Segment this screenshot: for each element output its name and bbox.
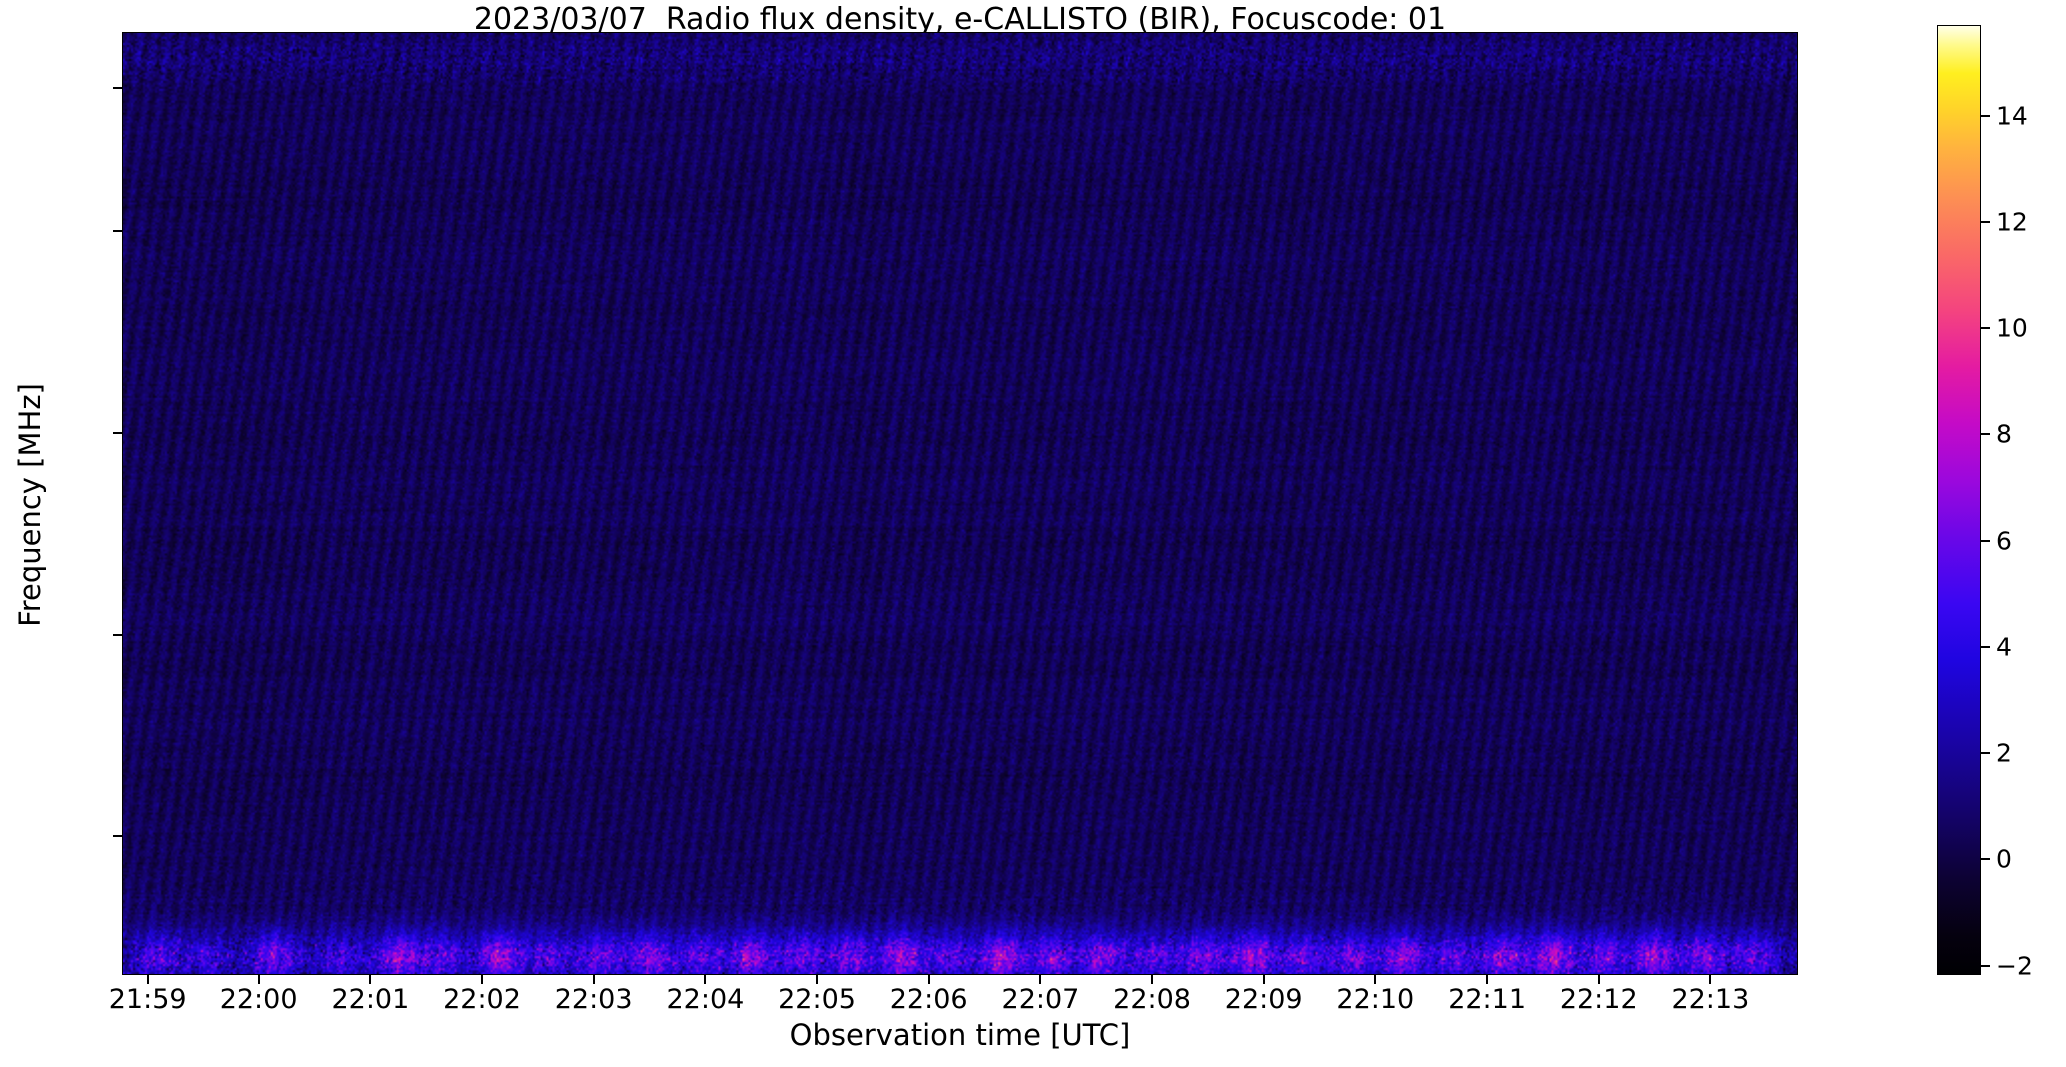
x-tick-mark xyxy=(816,975,818,984)
colorbar-tick-label: −2 xyxy=(1996,951,2033,980)
x-tick-mark xyxy=(1598,975,1600,984)
x-tick-label: 22:10 xyxy=(1336,984,1414,1015)
spectrogram-plot-area xyxy=(122,32,1798,975)
y-tick-mark xyxy=(113,835,122,837)
x-tick-label: 22:02 xyxy=(443,984,521,1015)
x-tick-mark xyxy=(1486,975,1488,984)
y-tick-mark xyxy=(113,432,122,434)
colorbar-tick-label: 2 xyxy=(1996,739,2012,768)
x-tick-mark xyxy=(1039,975,1041,984)
x-tick-label: 22:01 xyxy=(331,984,409,1015)
x-tick-mark xyxy=(1151,975,1153,984)
spectrogram-figure: 2023/03/07 Radio flux density, e-CALLIST… xyxy=(0,0,2066,1067)
y-tick-mark xyxy=(113,634,122,636)
x-tick-mark xyxy=(928,975,930,984)
colorbar-tick-label: 12 xyxy=(1996,207,2028,236)
y-tick-mark xyxy=(113,87,122,89)
colorbar-tick-mark xyxy=(1981,540,1990,542)
spectrogram-image xyxy=(123,33,1797,974)
x-tick-mark xyxy=(1263,975,1265,984)
y-axis-label: Frequency [MHz] xyxy=(13,270,47,740)
x-tick-label: 22:13 xyxy=(1671,984,1749,1015)
x-tick-label: 22:09 xyxy=(1225,984,1303,1015)
x-tick-mark xyxy=(258,975,260,984)
x-tick-mark xyxy=(1374,975,1376,984)
colorbar-tick-mark xyxy=(1981,752,1990,754)
colorbar-tick-mark xyxy=(1981,327,1990,329)
colorbar-tick-label: 10 xyxy=(1996,314,2028,343)
x-tick-mark xyxy=(704,975,706,984)
colorbar-tick-mark xyxy=(1981,115,1990,117)
x-tick-label: 22:11 xyxy=(1448,984,1526,1015)
colorbar xyxy=(1937,25,1981,975)
colorbar-tick-label: 0 xyxy=(1996,845,2012,874)
x-tick-label: 22:06 xyxy=(890,984,968,1015)
x-tick-mark xyxy=(481,975,483,984)
x-tick-label: 22:05 xyxy=(778,984,856,1015)
colorbar-tick-mark xyxy=(1981,433,1990,435)
x-tick-mark xyxy=(369,975,371,984)
colorbar-tick-label: 4 xyxy=(1996,632,2012,661)
colorbar-tick-mark xyxy=(1981,221,1990,223)
x-tick-label: 21:59 xyxy=(109,984,187,1015)
x-tick-mark xyxy=(1709,975,1711,984)
x-tick-label: 22:07 xyxy=(1002,984,1080,1015)
colorbar-tick-mark xyxy=(1981,858,1990,860)
colorbar-tick-label: 6 xyxy=(1996,526,2012,555)
x-axis-label: Observation time [UTC] xyxy=(122,1018,1798,1052)
x-tick-mark xyxy=(593,975,595,984)
y-tick-mark xyxy=(113,230,122,232)
colorbar-tick-mark xyxy=(1981,965,1990,967)
x-tick-mark xyxy=(147,975,149,984)
x-tick-label: 22:00 xyxy=(220,984,298,1015)
colorbar-tick-mark xyxy=(1981,646,1990,648)
x-tick-label: 22:03 xyxy=(555,984,633,1015)
colorbar-tick-label: 8 xyxy=(1996,420,2012,449)
colorbar-tick-label: 14 xyxy=(1996,101,2028,130)
x-tick-label: 22:04 xyxy=(667,984,745,1015)
x-tick-label: 22:08 xyxy=(1113,984,1191,1015)
x-tick-label: 22:12 xyxy=(1560,984,1638,1015)
